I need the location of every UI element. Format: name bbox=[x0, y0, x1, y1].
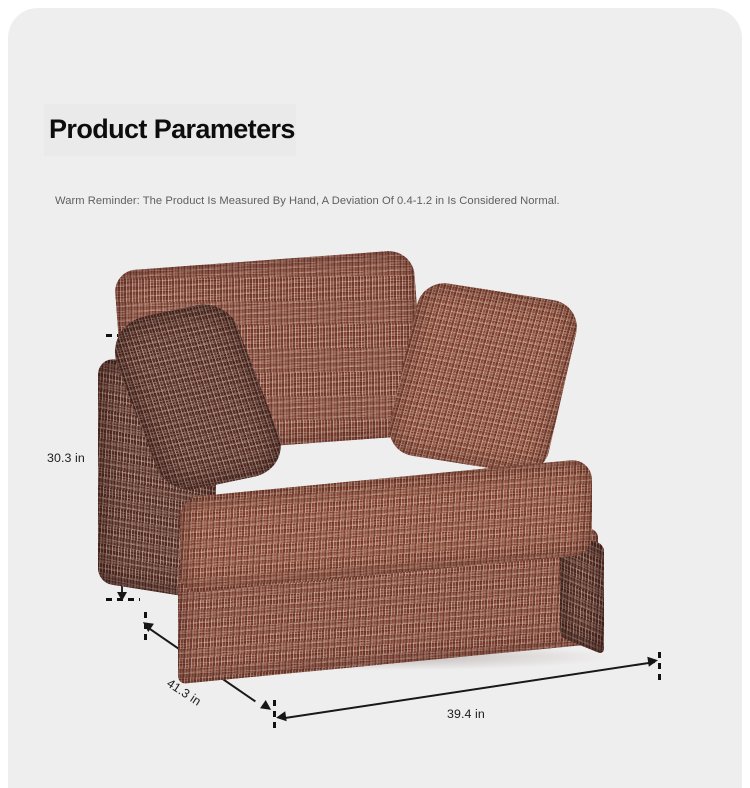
product-image bbox=[120, 248, 680, 668]
page-title: Product Parameters bbox=[49, 114, 295, 145]
product-parameters-page: Product Parameters Warm Reminder: The Pr… bbox=[0, 0, 750, 756]
width-arrow-left bbox=[275, 711, 286, 722]
width-tick-right bbox=[658, 652, 661, 684]
height-arrow-bottom bbox=[117, 592, 127, 601]
warm-reminder-text: Warm Reminder: The Product Is Measured B… bbox=[55, 195, 560, 207]
width-arrow-right bbox=[647, 655, 658, 666]
width-dimension-label: 39.4 in bbox=[447, 707, 485, 721]
height-dimension-label: 30.3 in bbox=[47, 451, 85, 465]
